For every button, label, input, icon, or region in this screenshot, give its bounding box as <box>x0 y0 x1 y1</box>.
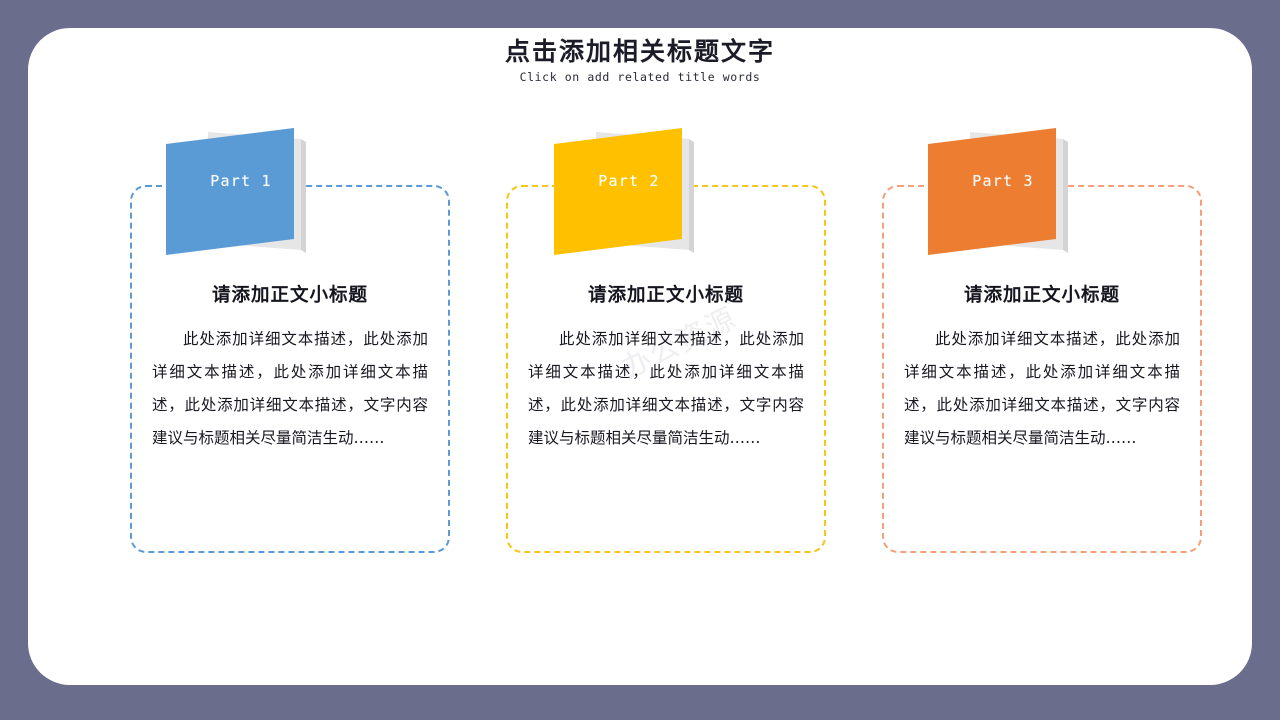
banner-shape-2 <box>554 128 794 263</box>
part-banner-3[interactable]: Part 3 <box>928 128 1128 253</box>
slide-panel: 点击添加相关标题文字 Click on add related title wo… <box>28 28 1252 685</box>
banner-shape-3 <box>928 128 1168 263</box>
banner-shape-1 <box>166 128 406 263</box>
section-subtitle-3: 请添加正文小标题 <box>890 281 1194 307</box>
part-banner-1[interactable]: Part 1 <box>166 128 366 253</box>
text-block-2: 请添加正文小标题 此处添加详细文本描述，此处添加详细文本描述，此处添加详细文本描… <box>514 281 818 455</box>
content-column-1[interactable]: Part 1 请添加正文小标题 此处添加详细文本描述，此处添加详细文本描述，此处… <box>76 28 456 685</box>
text-block-1: 请添加正文小标题 此处添加详细文本描述，此处添加详细文本描述，此处添加详细文本描… <box>138 281 442 455</box>
content-columns: Part 1 请添加正文小标题 此处添加详细文本描述，此处添加详细文本描述，此处… <box>28 28 1252 685</box>
part-banner-2[interactable]: Part 2 <box>554 128 754 253</box>
section-subtitle-2: 请添加正文小标题 <box>514 281 818 307</box>
section-body-1: 此处添加详细文本描述，此处添加详细文本描述，此处添加详细文本描述，此处添加详细文… <box>138 323 442 455</box>
section-body-2: 此处添加详细文本描述，此处添加详细文本描述，此处添加详细文本描述，此处添加详细文… <box>514 323 818 455</box>
section-subtitle-1: 请添加正文小标题 <box>138 281 442 307</box>
section-body-3: 此处添加详细文本描述，此处添加详细文本描述，此处添加详细文本描述，此处添加详细文… <box>890 323 1194 455</box>
content-column-2[interactable]: Part 2 请添加正文小标题 此处添加详细文本描述，此处添加详细文本描述，此处… <box>452 28 832 685</box>
content-column-3[interactable]: Part 3 请添加正文小标题 此处添加详细文本描述，此处添加详细文本描述，此处… <box>828 28 1208 685</box>
text-block-3: 请添加正文小标题 此处添加详细文本描述，此处添加详细文本描述，此处添加详细文本描… <box>890 281 1194 455</box>
